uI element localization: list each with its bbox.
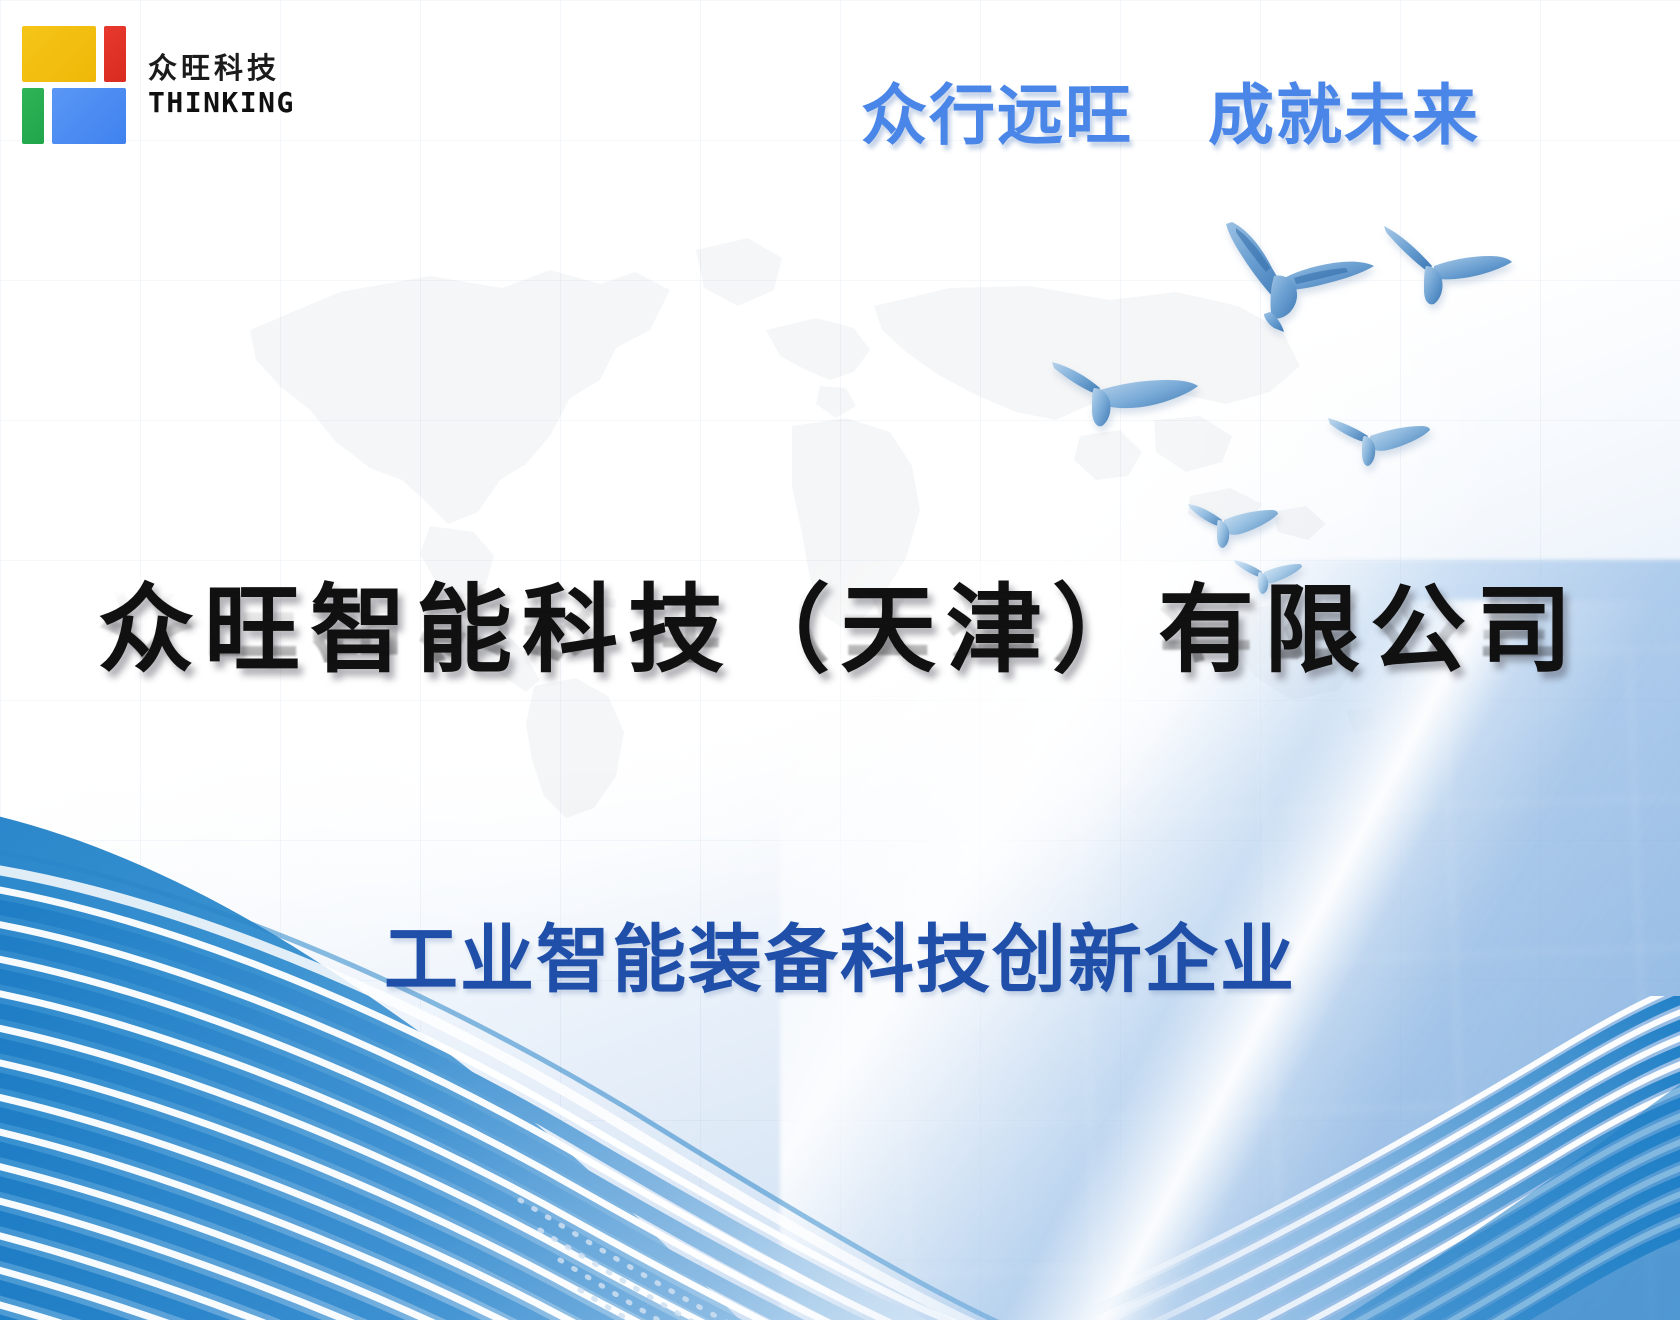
red-tile-icon xyxy=(104,26,126,82)
blue-wave-ribbon-bottom-right xyxy=(1090,996,1680,1320)
blue-tile-icon xyxy=(52,88,126,144)
seagull-small-right-icon xyxy=(1326,414,1430,468)
page-title: 众旺智能科技（天津）有限公司 xyxy=(0,580,1680,681)
logo-wordmark: 众旺科技 THINKING xyxy=(148,53,295,117)
presentation-slide: 众旺科技 THINKING 众行远旺 成就未来 众旺智能科技（天津）有限公司 众… xyxy=(0,0,1680,1320)
logo-chinese-name: 众旺科技 xyxy=(148,53,295,85)
company-logo[interactable]: 众旺科技 THINKING xyxy=(22,26,295,144)
seagull-mid-left-icon xyxy=(1048,358,1198,434)
seagull-small-lower-icon xyxy=(1186,498,1278,550)
zhongwang-four-square-logo-icon xyxy=(22,26,126,144)
seagull-right-upper-icon xyxy=(1378,222,1512,308)
blue-wave-ribbon-bottom-left xyxy=(0,770,1240,1320)
green-tile-icon xyxy=(22,88,44,144)
page-subtitle: 工业智能装备科技创新企业 xyxy=(0,900,1680,1007)
yellow-tile-icon xyxy=(22,26,96,82)
seagull-large-upper-icon xyxy=(1196,216,1382,334)
title-block: 众旺智能科技（天津）有限公司 众旺智能科技（天津）有限公司 xyxy=(0,580,1680,764)
header-slogan: 众行远旺 成就未来 xyxy=(861,62,1480,158)
logo-english-name: THINKING xyxy=(148,89,295,117)
